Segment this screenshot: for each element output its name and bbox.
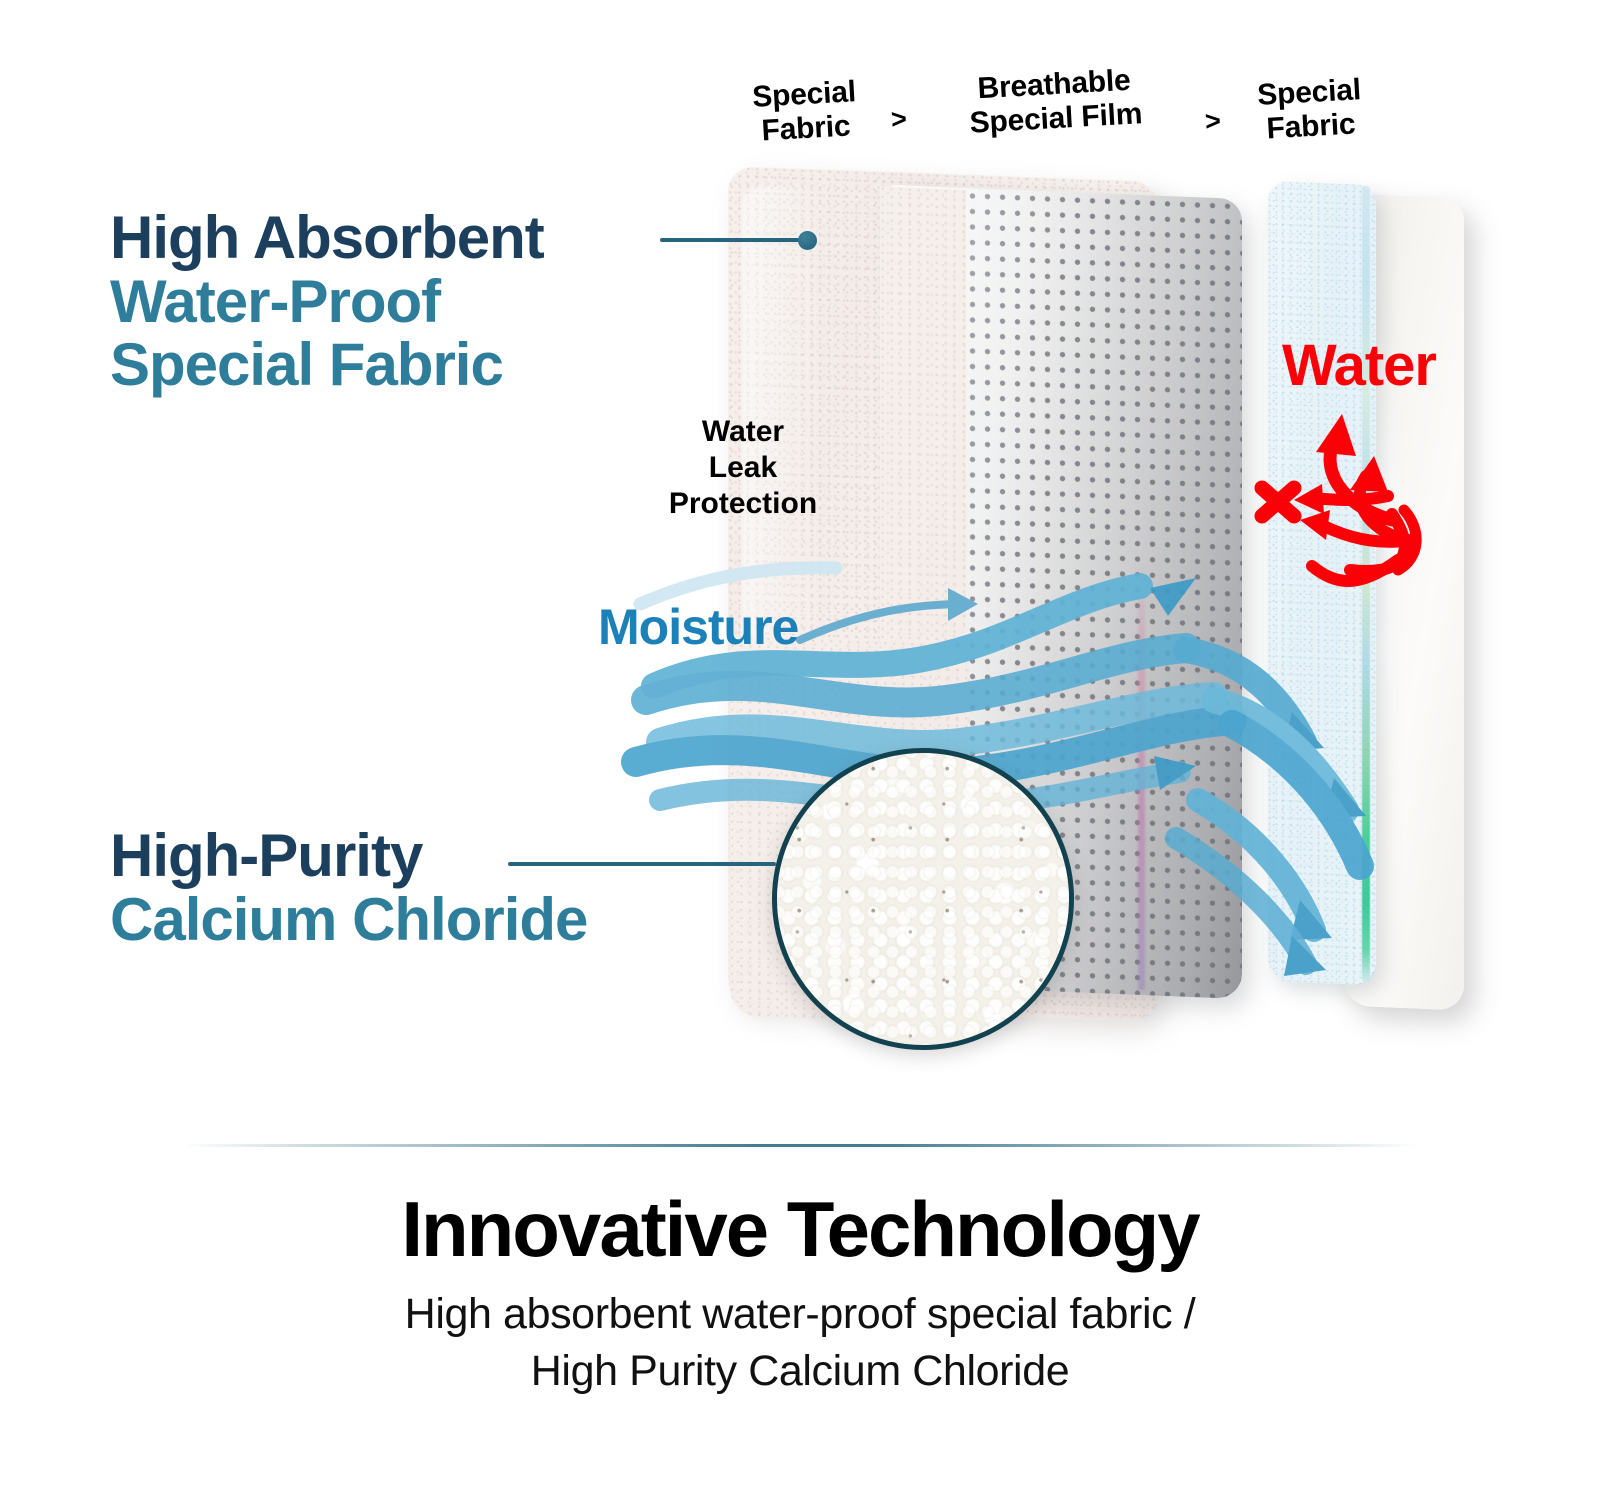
heading-high-absorbent-fabric: High Absorbent Water-Proof Special Fabri… — [110, 206, 544, 397]
layer-label-breathable-special-film: Breathable Special Film — [928, 61, 1181, 142]
heading-2-line-2: Calcium Chloride — [110, 888, 587, 952]
special-fabric-right-layer — [1268, 181, 1376, 986]
annotation-moisture: Moisture — [598, 598, 798, 656]
film-fabric-seam — [1138, 560, 1145, 990]
blue-fabric-texture — [1268, 181, 1376, 986]
leader-line-fabric — [660, 238, 808, 242]
leader-endpoint-dot-icon — [798, 231, 817, 250]
heading-high-purity-calcium-chloride: High-Purity Calcium Chloride — [110, 824, 587, 951]
layer-label-special-fabric-left: Special Fabric — [718, 73, 891, 150]
pellet-speckles — [777, 753, 1069, 1045]
iridescent-fabric-edge — [1362, 186, 1370, 982]
bottom-section: Innovative Technology High absorbent wat… — [0, 1190, 1600, 1400]
calcium-chloride-pellets-inset — [772, 748, 1074, 1050]
bottom-title: Innovative Technology — [0, 1190, 1600, 1268]
layer-label-special-fabric-right: Special Fabric — [1223, 71, 1396, 148]
film-notch-texture — [880, 186, 966, 649]
infographic-canvas: Special Fabric > Breathable Special Film… — [0, 0, 1600, 1500]
annotation-water: Water — [1282, 332, 1436, 399]
film-notch-cutout — [880, 186, 966, 649]
layer-separator-caret-1: > — [890, 104, 907, 136]
section-divider — [180, 1144, 1420, 1147]
annotation-water-leak-protection: Water Leak Protection — [648, 414, 838, 522]
heading-1-line-2: Water-Proof — [110, 270, 544, 334]
bottom-subtitle: High absorbent water-proof special fabri… — [0, 1286, 1600, 1400]
heading-2-line-1: High-Purity — [110, 824, 587, 888]
layer-separator-caret-2: > — [1204, 106, 1221, 138]
heading-1-line-1: High Absorbent — [110, 206, 544, 270]
heading-1-line-3: Special Fabric — [110, 333, 544, 397]
